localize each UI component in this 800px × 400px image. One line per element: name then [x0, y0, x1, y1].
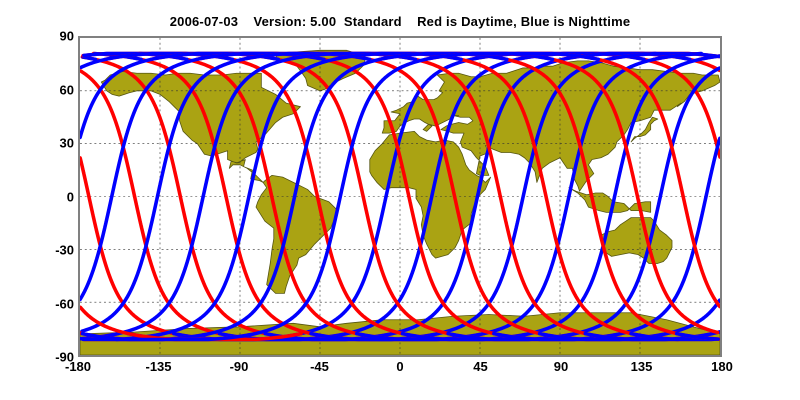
x-tick-label: -90: [230, 359, 249, 374]
plot-area: [78, 36, 722, 357]
y-tick-label: 30: [14, 136, 74, 151]
x-tick-label: 90: [554, 359, 568, 374]
landmass: [101, 71, 300, 182]
y-tick-label: 60: [14, 82, 74, 97]
x-tick-label: -45: [310, 359, 329, 374]
y-tick-label: 90: [14, 29, 74, 44]
x-tick-label: -135: [145, 359, 171, 374]
ground-track-svg: [80, 38, 720, 355]
y-tick-label: -60: [14, 296, 74, 311]
x-tick-label: 135: [631, 359, 653, 374]
chart-canvas: 2006-07-03 Version: 5.00 Standard Red is…: [0, 0, 800, 400]
x-tick-label: 45: [473, 359, 487, 374]
y-tick-label: -30: [14, 243, 74, 258]
plot-inner: [80, 38, 720, 355]
nighttime-ground-track: [83, 57, 95, 59]
x-tick-label: 180: [711, 359, 733, 374]
chart-title: 2006-07-03 Version: 5.00 Standard Red is…: [0, 14, 800, 29]
x-tick-label: -180: [65, 359, 91, 374]
landmass: [601, 218, 672, 264]
x-tick-label: 0: [396, 359, 403, 374]
y-tick-label: 0: [14, 189, 74, 204]
